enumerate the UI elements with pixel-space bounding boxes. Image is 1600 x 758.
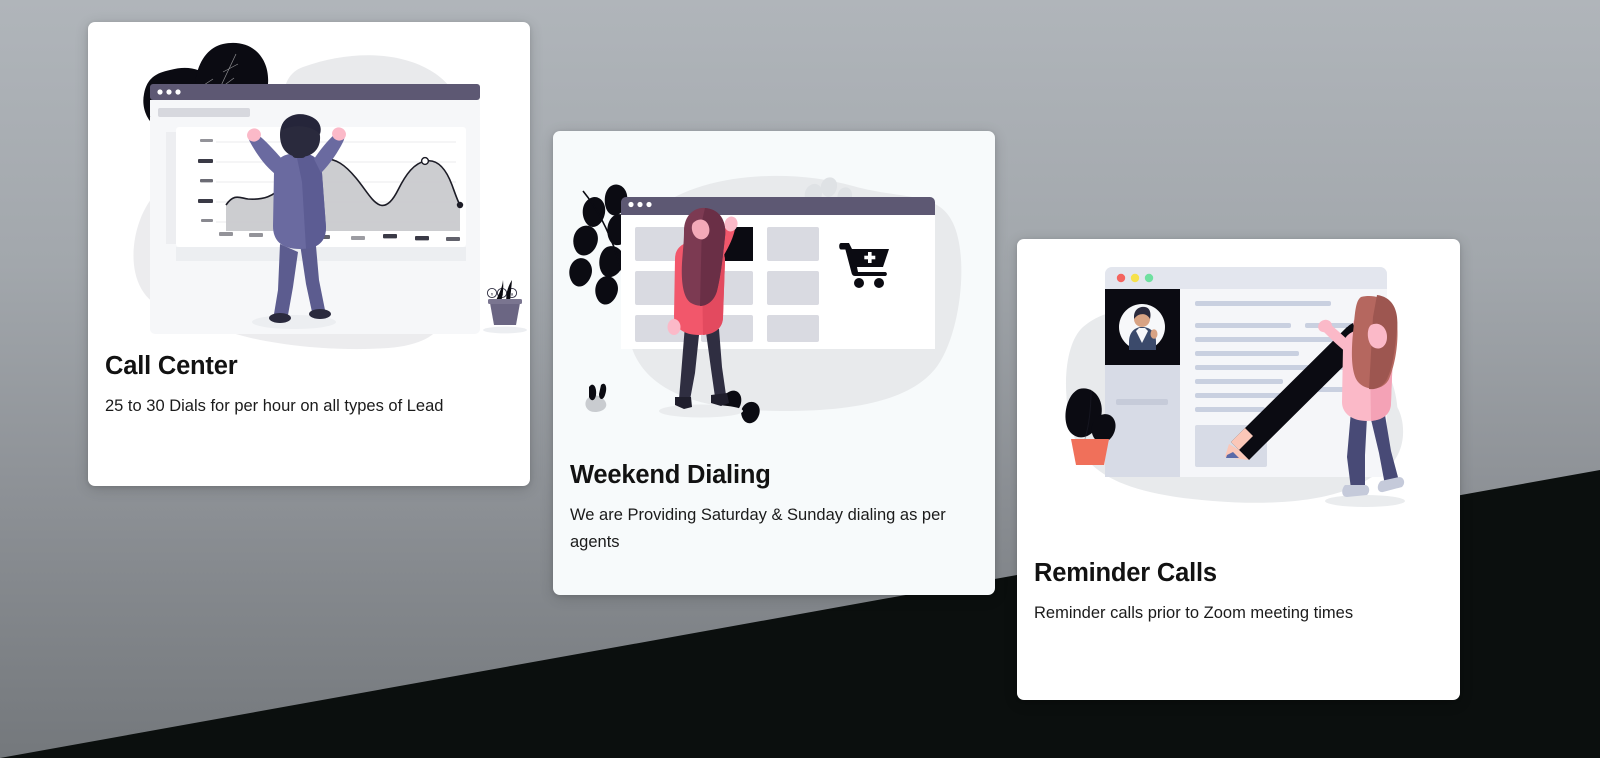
card-title: Call Center (105, 352, 513, 381)
reminder-calls-card-body: Reminder Calls Reminder calls prior to Z… (1017, 559, 1460, 627)
call-center-illustration: n s a (88, 22, 530, 352)
weekend-dialing-card-body: Weekend Dialing We are Providing Saturda… (553, 461, 995, 556)
card-title: Reminder Calls (1034, 559, 1443, 588)
rock-decoration (585, 384, 606, 412)
avatar (1119, 304, 1165, 350)
page-stage: n s a (0, 0, 1600, 758)
traffic-light-green (1145, 274, 1153, 282)
card-description: We are Providing Saturday & Sunday diali… (570, 502, 952, 555)
weekend-dialing-illustration (553, 131, 995, 461)
traffic-light-red (1117, 274, 1125, 282)
card-description: 25 to 30 Dials for per hour on all types… (105, 393, 487, 420)
card-title: Weekend Dialing (570, 461, 978, 490)
card-description: Reminder calls prior to Zoom meeting tim… (1034, 600, 1443, 627)
traffic-light-yellow (1131, 274, 1139, 282)
call-center-card-body: Call Center 25 to 30 Dials for per hour … (88, 352, 530, 420)
service-card-call-center[interactable]: n s a (88, 22, 530, 486)
reminder-calls-illustration (1017, 239, 1460, 559)
service-card-weekend-dialing[interactable]: Weekend Dialing We are Providing Saturda… (553, 131, 995, 595)
potted-plant (483, 280, 527, 333)
service-card-reminder-calls[interactable]: Reminder Calls Reminder calls prior to Z… (1017, 239, 1460, 700)
